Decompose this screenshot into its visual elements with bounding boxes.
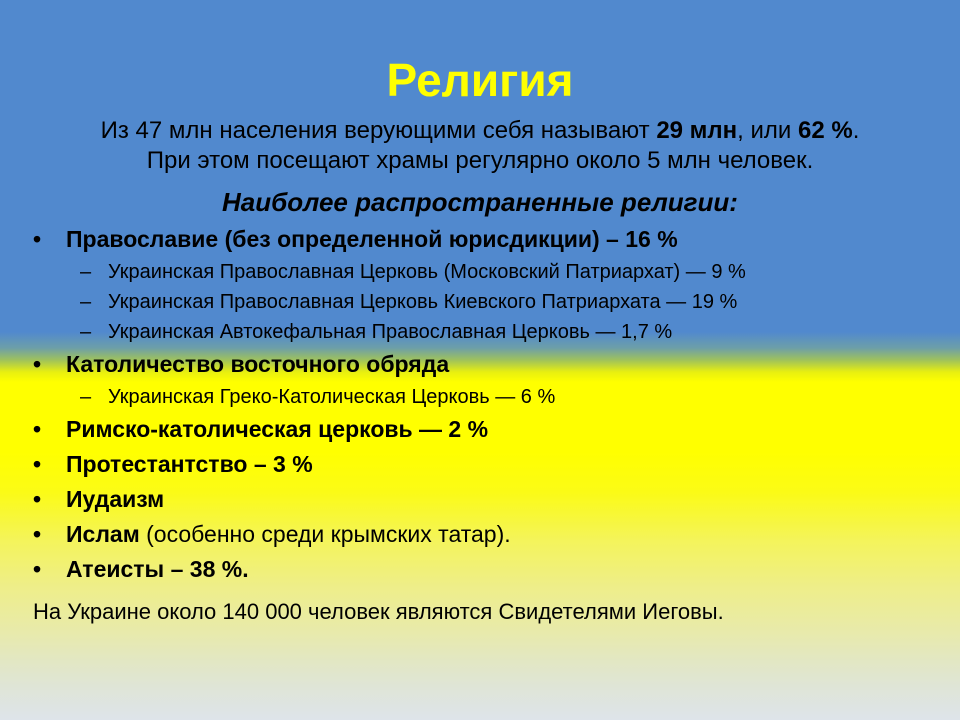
bullet-marker-icon: • <box>33 222 41 257</box>
list-item: –Украинская Православная Церковь (Москов… <box>0 257 960 287</box>
intro-believers-count: 29 млн <box>656 117 737 144</box>
intro-believers-percent: 62 % <box>798 117 853 144</box>
list-item-label: Атеисты – 38 %. <box>66 556 249 582</box>
list-item-note: (особенно среди крымских татар). <box>140 521 511 547</box>
list-item: •Православие (без определенной юрисдикци… <box>0 222 960 257</box>
slide-canvas: Религия Из 47 млн населения верующими се… <box>0 0 960 720</box>
list-item: –Украинская Православная Церковь Киевско… <box>0 287 960 317</box>
bullet-marker-icon: • <box>33 447 41 482</box>
list-item-label: Римско-католическая церковь — 2 % <box>66 416 488 442</box>
list-item-label: Иудаизм <box>66 486 164 512</box>
intro-paragraph: Из 47 млн населения верующими себя назыв… <box>26 116 934 176</box>
dash-marker-icon: – <box>80 287 91 317</box>
list-item-label: Католичество восточного обряда <box>66 351 449 377</box>
bullet-marker-icon: • <box>33 347 41 382</box>
list-item-note: Украинская Православная Церковь (Московс… <box>108 261 746 283</box>
list-item-note: Украинская Автокефальная Православная Це… <box>108 321 672 343</box>
list-item-note: Украинская Православная Церковь Киевског… <box>108 291 737 313</box>
intro-line-2: При этом посещают храмы регулярно около … <box>26 146 934 176</box>
list-item: •Иудаизм <box>0 482 960 517</box>
list-item: •Католичество восточного обряда <box>0 347 960 382</box>
page-title: Религия <box>0 54 960 106</box>
list-item-label: Ислам <box>66 521 140 547</box>
section-heading: Наиболее распространенные религии: <box>0 185 960 219</box>
dash-marker-icon: – <box>80 317 91 347</box>
bullet-marker-icon: • <box>33 552 41 587</box>
bullet-marker-icon: • <box>33 517 41 552</box>
intro-line-1: Из 47 млн населения верующими себя назыв… <box>101 117 860 144</box>
bullet-marker-icon: • <box>33 482 41 517</box>
dash-marker-icon: – <box>80 382 91 412</box>
list-item-label: Православие (без определенной юрисдикции… <box>66 226 678 252</box>
bullet-marker-icon: • <box>33 412 41 447</box>
intro-line1-part-a: Из 47 млн населения верующими себя назыв… <box>101 117 657 144</box>
religion-list: •Православие (без определенной юрисдикци… <box>0 222 960 587</box>
list-item: –Украинская Греко-Католическая Церковь —… <box>0 382 960 412</box>
list-item: •Ислам (особенно среди крымских татар). <box>0 517 960 552</box>
footer-note: На Украине около 140 000 человек являютс… <box>33 598 933 626</box>
intro-line1-part-e: . <box>853 117 860 144</box>
intro-line1-part-c: , или <box>737 117 798 144</box>
list-item: •Атеисты – 38 %. <box>0 552 960 587</box>
list-item: •Римско-католическая церковь — 2 % <box>0 412 960 447</box>
list-item-label: Протестантство – 3 % <box>66 451 313 477</box>
list-item: –Украинская Автокефальная Православная Ц… <box>0 317 960 347</box>
dash-marker-icon: – <box>80 257 91 287</box>
list-item-note: Украинская Греко-Католическая Церковь — … <box>108 386 555 408</box>
list-item: •Протестантство – 3 % <box>0 447 960 482</box>
